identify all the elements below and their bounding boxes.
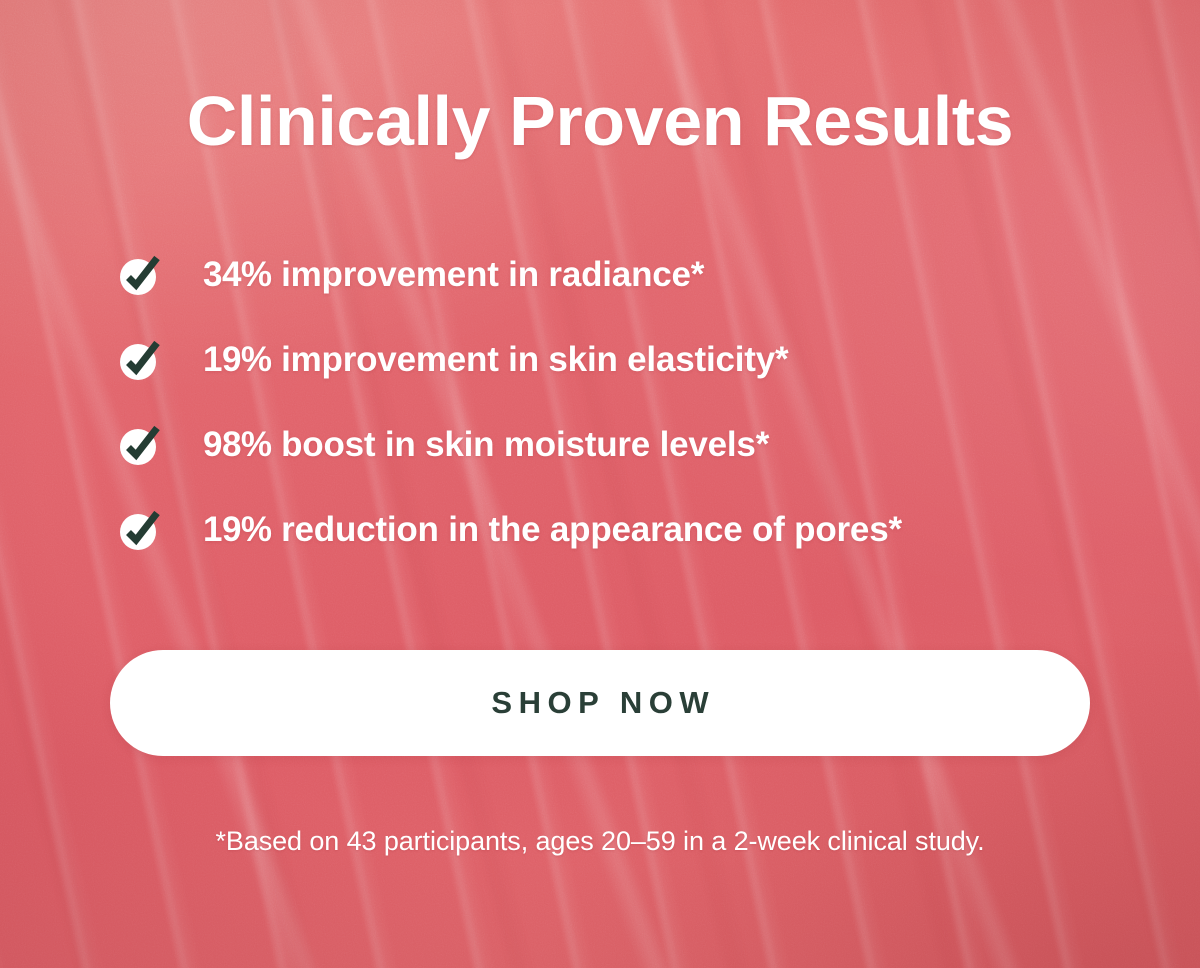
footnote-disclaimer: *Based on 43 participants, ages 20–59 in… xyxy=(0,826,1200,857)
list-item: 19% reduction in the appearance of pores… xyxy=(120,507,902,553)
benefit-description: boost in skin moisture levels xyxy=(272,425,756,464)
list-item: 34% improvement in radiance* xyxy=(120,252,902,298)
benefit-description: improvement in radiance xyxy=(272,255,691,294)
list-item: 19% improvement in skin elasticity* xyxy=(120,337,902,383)
benefit-footnote-marker: * xyxy=(775,340,788,379)
check-circle-icon xyxy=(120,340,160,380)
benefit-description: improvement in skin elasticity xyxy=(272,340,775,379)
benefit-text: 98% boost in skin moisture levels* xyxy=(203,425,769,465)
check-circle-icon xyxy=(120,255,160,295)
benefit-stat: 19% xyxy=(203,510,272,549)
shop-now-button[interactable]: SHOP NOW xyxy=(110,650,1090,756)
benefit-text: 34% improvement in radiance* xyxy=(203,255,704,295)
benefit-footnote-marker: * xyxy=(756,425,769,464)
benefit-stat: 34% xyxy=(203,255,272,294)
benefit-description: reduction in the appearance of pores xyxy=(272,510,889,549)
check-circle-icon xyxy=(120,510,160,550)
promo-banner: Clinically Proven Results 34% improvemen… xyxy=(0,0,1200,968)
list-item: 98% boost in skin moisture levels* xyxy=(120,422,902,468)
benefits-list: 34% improvement in radiance* 19% improve… xyxy=(120,252,902,592)
benefit-stat: 19% xyxy=(203,340,272,379)
check-circle-icon xyxy=(120,425,160,465)
benefit-footnote-marker: * xyxy=(691,255,704,294)
benefit-stat: 98% xyxy=(203,425,272,464)
benefit-text: 19% reduction in the appearance of pores… xyxy=(203,510,902,550)
benefit-footnote-marker: * xyxy=(888,510,901,549)
page-title: Clinically Proven Results xyxy=(0,84,1200,158)
benefit-text: 19% improvement in skin elasticity* xyxy=(203,340,788,380)
